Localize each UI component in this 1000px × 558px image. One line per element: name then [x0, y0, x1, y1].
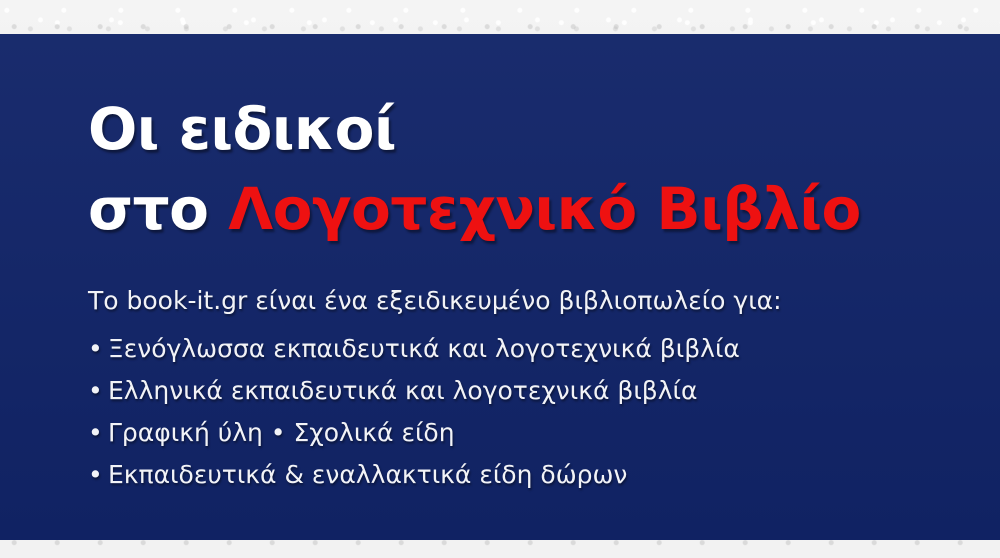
list-item: •Ξενόγλωσσα εκπαιδευτικά και λογοτεχνικά… [88, 328, 960, 370]
list-item: •Γραφική ύλη • Σχολικά είδη [88, 412, 960, 454]
list-item: •Ελληνικά εκπαιδευτικά και λογοτεχνικά β… [88, 370, 960, 412]
promo-banner-screenshot: Οι ειδικοί στο Λογοτεχνικό Βιβλίο Το boo… [0, 0, 1000, 558]
bullet-icon: • [88, 454, 108, 496]
banner-content: Οι ειδικοί στο Λογοτεχνικό Βιβλίο Το boo… [88, 92, 960, 496]
list-item-label: Γραφική ύλη • Σχολικά είδη [108, 418, 455, 447]
list-item-label: Ελληνικά εκπαιδευτικά και λογοτεχνικά βι… [108, 376, 698, 405]
bullet-icon: • [88, 370, 108, 412]
list-item: •Εκπαιδευτικά & εναλλακτικά είδη δώρων [88, 454, 960, 496]
bullet-icon: • [88, 412, 108, 454]
intro-paragraph: Το book-it.gr είναι ένα εξειδικευμένο βι… [88, 284, 960, 318]
list-item-label: Εκπαιδευτικά & εναλλακτικά είδη δώρων [108, 460, 627, 489]
headline-line-2: στο Λογοτεχνικό Βιβλίο [88, 172, 960, 246]
bullet-icon: • [88, 328, 108, 370]
headline-line-2-accent: Λογοτεχνικό Βιβλίο [228, 175, 861, 243]
headline-line-2-plain: στο [88, 175, 228, 243]
feature-list: •Ξενόγλωσσα εκπαιδευτικά και λογοτεχνικά… [88, 328, 960, 496]
navy-banner-panel: Οι ειδικοί στο Λογοτεχνικό Βιβλίο Το boo… [0, 34, 1000, 540]
list-item-label: Ξενόγλωσσα εκπαιδευτικά και λογοτεχνικά … [108, 334, 740, 363]
headline-line-1: Οι ειδικοί [88, 92, 960, 166]
